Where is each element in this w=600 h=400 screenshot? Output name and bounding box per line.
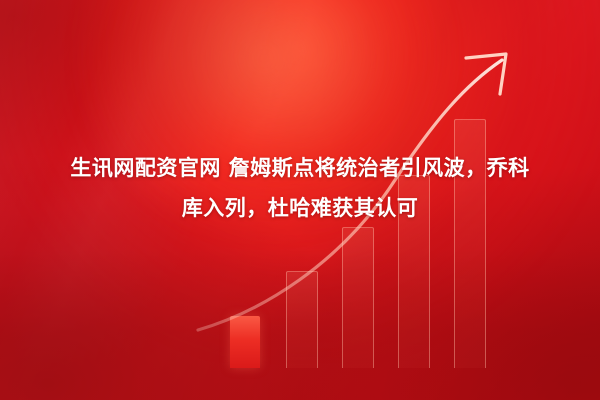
chart-bar	[342, 227, 374, 368]
image-canvas: 生讯网配资官网 詹姆斯点将统治者引风波，乔科 库入列，杜哈难获其认可	[0, 0, 600, 400]
chart-bar	[286, 271, 318, 368]
headline-line-2: 库入列，杜哈难获其认可	[14, 188, 586, 228]
headline-text: 生讯网配资官网 詹姆斯点将统治者引风波，乔科 库入列，杜哈难获其认可	[0, 148, 600, 228]
chart-bar	[230, 316, 260, 368]
headline-line-1: 生讯网配资官网 詹姆斯点将统治者引风波，乔科	[70, 156, 529, 180]
